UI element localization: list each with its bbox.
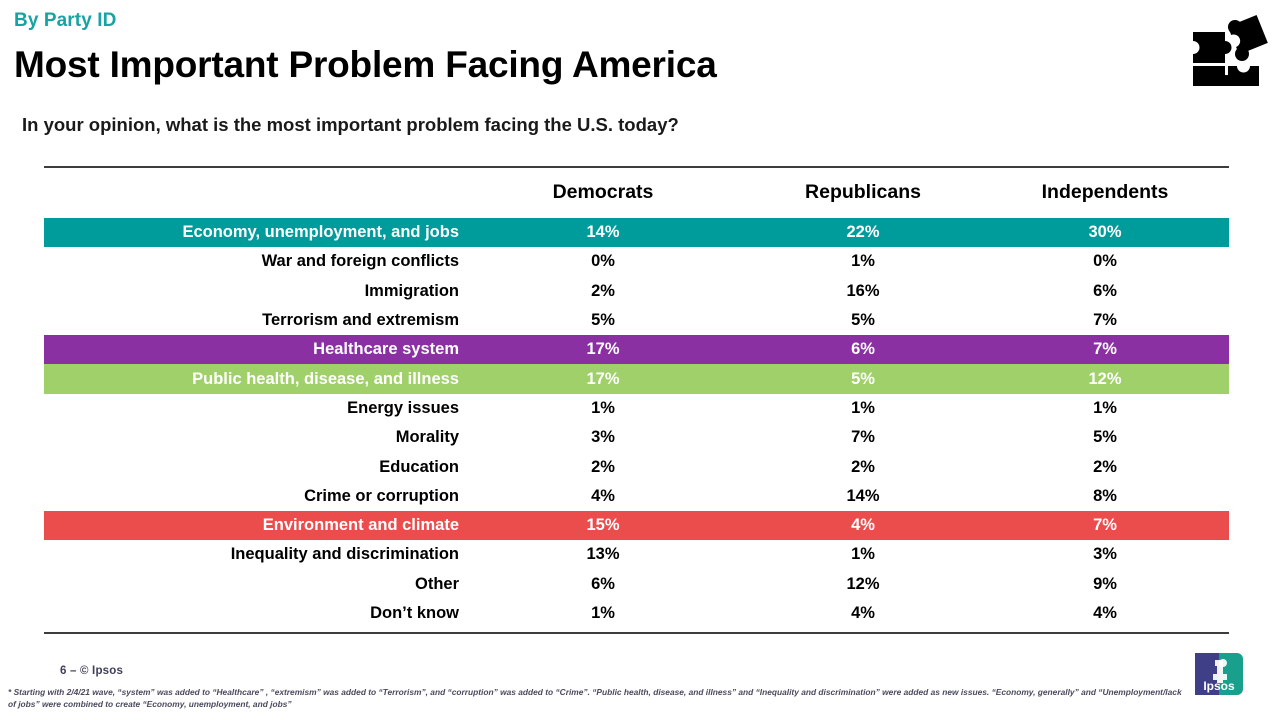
column-header-democrats: Democrats: [553, 181, 654, 204]
cell-democrats: 17%: [586, 370, 619, 389]
table-body: Economy, unemployment, and jobs14%22%30%…: [44, 218, 1229, 628]
row-label: Environment and climate: [44, 516, 459, 535]
table-row: Crime or corruption4%14%8%: [44, 482, 1229, 511]
cell-republicans: 4%: [851, 604, 875, 623]
cell-democrats: 6%: [591, 575, 615, 594]
table-row: Terrorism and extremism5%5%7%: [44, 306, 1229, 335]
table-row: Immigration2%16%6%: [44, 277, 1229, 306]
table-row: Morality3%7%5%: [44, 423, 1229, 452]
page-number: 6 – © Ipsos: [60, 665, 123, 677]
eyebrow-label: By Party ID: [14, 10, 116, 32]
cell-republicans: 6%: [851, 340, 875, 359]
cell-independents: 1%: [1093, 399, 1117, 418]
row-label: Immigration: [44, 282, 459, 301]
cell-independents: 30%: [1088, 223, 1121, 242]
cell-republicans: 22%: [846, 223, 879, 242]
table-row: Energy issues1%1%1%: [44, 394, 1229, 423]
table-column-headers: Democrats Republicans Independents: [44, 168, 1229, 218]
row-label: Healthcare system: [44, 340, 459, 359]
cell-independents: 4%: [1093, 604, 1117, 623]
cell-republicans: 12%: [846, 575, 879, 594]
cell-democrats: 1%: [591, 399, 615, 418]
cell-democrats: 4%: [591, 487, 615, 506]
cell-democrats: 17%: [586, 340, 619, 359]
row-label: Energy issues: [44, 399, 459, 418]
cell-independents: 7%: [1093, 311, 1117, 330]
table-row: Healthcare system17%6%7%: [44, 335, 1229, 364]
cell-independents: 8%: [1093, 487, 1117, 506]
cell-republicans: 1%: [851, 545, 875, 564]
table-row: Environment and climate15%4%7%: [44, 511, 1229, 540]
cell-democrats: 14%: [586, 223, 619, 242]
page-subtitle: In your opinion, what is the most import…: [22, 114, 679, 136]
cell-republicans: 16%: [846, 282, 879, 301]
table-row: Economy, unemployment, and jobs14%22%30%: [44, 218, 1229, 247]
ipsos-logo-text: Ipsos: [1203, 679, 1235, 693]
table-row: Don’t know1%4%4%: [44, 599, 1229, 628]
cell-democrats: 1%: [591, 604, 615, 623]
column-header-independents: Independents: [1042, 181, 1169, 204]
cell-democrats: 0%: [591, 252, 615, 271]
cell-republicans: 4%: [851, 516, 875, 535]
cell-democrats: 13%: [586, 545, 619, 564]
footnote-text: * Starting with 2/4/21 wave, “system” wa…: [8, 686, 1188, 710]
column-header-republicans: Republicans: [805, 181, 921, 204]
cell-democrats: 2%: [591, 458, 615, 477]
cell-democrats: 5%: [591, 311, 615, 330]
cell-independents: 2%: [1093, 458, 1117, 477]
cell-independents: 5%: [1093, 428, 1117, 447]
cell-republicans: 14%: [846, 487, 879, 506]
cell-independents: 9%: [1093, 575, 1117, 594]
table-row: War and foreign conflicts0%1%0%: [44, 247, 1229, 276]
slide-root: By Party ID Most Important Problem Facin…: [0, 0, 1280, 720]
row-label: War and foreign conflicts: [44, 252, 459, 271]
cell-democrats: 2%: [591, 282, 615, 301]
cell-independents: 7%: [1093, 340, 1117, 359]
cell-republicans: 1%: [851, 252, 875, 271]
cell-independents: 3%: [1093, 545, 1117, 564]
row-label: Terrorism and extremism: [44, 311, 459, 330]
puzzle-logo-icon: [1185, 8, 1271, 86]
page-title: Most Important Problem Facing America: [14, 44, 717, 86]
row-label: Inequality and discrimination: [44, 545, 459, 564]
table-bottom-rule: [44, 632, 1229, 634]
cell-independents: 7%: [1093, 516, 1117, 535]
row-label: Other: [44, 575, 459, 594]
cell-republicans: 1%: [851, 399, 875, 418]
cell-independents: 6%: [1093, 282, 1117, 301]
cell-republicans: 5%: [851, 311, 875, 330]
row-label: Morality: [44, 428, 459, 447]
row-label: Economy, unemployment, and jobs: [44, 223, 459, 242]
row-label: Crime or corruption: [44, 487, 459, 506]
cell-independents: 0%: [1093, 252, 1117, 271]
table-row: Inequality and discrimination13%1%3%: [44, 540, 1229, 569]
table-row: Public health, disease, and illness17%5%…: [44, 364, 1229, 393]
cell-independents: 12%: [1088, 370, 1121, 389]
row-label: Public health, disease, and illness: [44, 370, 459, 389]
row-label: Education: [44, 458, 459, 477]
row-label: Don’t know: [44, 604, 459, 623]
results-table: Democrats Republicans Independents Econo…: [44, 166, 1229, 628]
cell-republicans: 5%: [851, 370, 875, 389]
table-row: Education2%2%2%: [44, 452, 1229, 481]
cell-republicans: 2%: [851, 458, 875, 477]
cell-republicans: 7%: [851, 428, 875, 447]
cell-democrats: 15%: [586, 516, 619, 535]
table-row: Other6%12%9%: [44, 570, 1229, 599]
cell-democrats: 3%: [591, 428, 615, 447]
ipsos-logo-icon: Ipsos: [1193, 650, 1245, 698]
